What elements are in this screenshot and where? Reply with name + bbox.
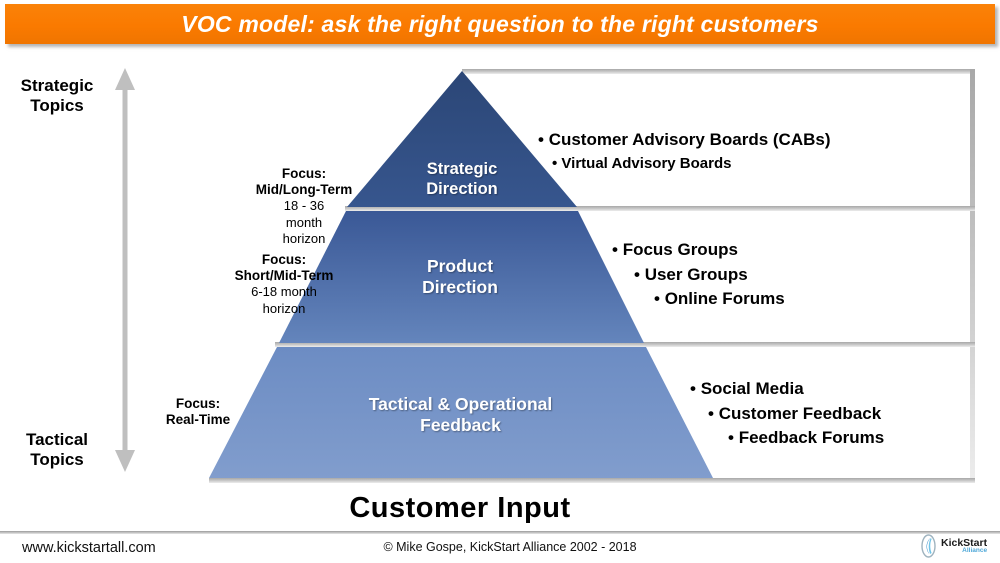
kickstart-leaf-icon <box>920 534 937 558</box>
footer-copyright: © Mike Gospe, KickStart Alliance 2002 - … <box>300 540 720 554</box>
tier-title-tactical-operational-feedback: Tactical & Operational Feedback <box>318 394 603 436</box>
kickstart-logo-text: KickStart Alliance <box>941 538 987 555</box>
axis-label-strategic-topics: Strategic Topics <box>2 76 112 116</box>
list-item: • User Groups <box>634 263 785 288</box>
bullet-text: Social Media <box>701 379 804 398</box>
focus-note-2-title-line2: Short/Mid-Term <box>196 268 372 284</box>
focus-note-3-title-line1: Focus: <box>128 396 268 412</box>
tier-3-line1: Tactical & Operational <box>318 394 603 415</box>
focus-note-2-sub-line1: 6-18 month <box>196 284 372 300</box>
list-item: • Online Forums <box>654 287 785 312</box>
tier-3-line2: Feedback <box>318 415 603 436</box>
tier-1-line2: Direction <box>392 180 532 200</box>
focus-note-2-title-line1: Focus: <box>196 252 372 268</box>
bullet-list-product-direction-methods: • Focus Groups • User Groups • Online Fo… <box>612 238 785 312</box>
bullet-text: Feedback Forums <box>739 428 885 447</box>
bullet-text: Online Forums <box>665 289 785 308</box>
focus-note-1-title-line2: Mid/Long-Term <box>216 182 392 198</box>
focus-note-1-sub-line3: horizon <box>216 231 392 247</box>
logo-brand-sub: Alliance <box>941 548 987 555</box>
focus-note-mid-long-term: Focus: Mid/Long-Term 18 - 36 month horiz… <box>216 166 392 247</box>
focus-note-real-time: Focus: Real-Time <box>128 396 268 428</box>
axis-label-tactical-topics: Tactical Topics <box>2 430 112 470</box>
axis-label-strategic-line1: Strategic <box>2 76 112 96</box>
tier-2-line2: Direction <box>385 277 535 298</box>
axis-label-strategic-line2: Topics <box>2 96 112 116</box>
tier-title-strategic-direction: Strategic Direction <box>392 160 532 200</box>
kickstart-alliance-logo: KickStart Alliance <box>920 533 996 559</box>
tier-2-line1: Product <box>385 256 535 277</box>
bullet-text: User Groups <box>645 265 748 284</box>
focus-note-1-sub-line2: month <box>216 215 392 231</box>
list-item: • Virtual Advisory Boards <box>552 153 831 175</box>
footer-divider <box>0 531 1000 534</box>
bullet-text: Virtual Advisory Boards <box>561 155 731 172</box>
bullet-list-strategic-direction-methods: • Customer Advisory Boards (CABs) • Virt… <box>538 128 831 174</box>
header-banner: VOC model: ask the right question to the… <box>5 4 995 44</box>
focus-note-short-mid-term: Focus: Short/Mid-Term 6-18 month horizon <box>196 252 372 317</box>
tier-1-line1: Strategic <box>392 160 532 180</box>
axis-label-tactical-line1: Tactical <box>2 430 112 450</box>
list-item: • Focus Groups <box>612 238 785 263</box>
bullet-list-tactical-feedback-methods: • Social Media • Customer Feedback • Fee… <box>690 377 884 451</box>
axis-label-tactical-line2: Topics <box>2 450 112 470</box>
bullet-text: Customer Feedback <box>719 404 882 423</box>
pyramid-base-caption: Customer Input <box>250 492 670 525</box>
list-item: • Customer Advisory Boards (CABs) <box>538 128 831 153</box>
focus-note-2-sub-line2: horizon <box>196 301 372 317</box>
focus-note-1-sub-line1: 18 - 36 <box>216 198 392 214</box>
header-bar: VOC model: ask the right question to the… <box>5 4 995 44</box>
bullet-text: Focus Groups <box>623 240 738 259</box>
focus-note-1-title-line1: Focus: <box>216 166 392 182</box>
list-item: • Feedback Forums <box>728 426 884 451</box>
focus-note-3-title-line2: Real-Time <box>128 412 268 428</box>
page-title: VOC model: ask the right question to the… <box>181 11 818 38</box>
tier-title-product-direction: Product Direction <box>385 256 535 298</box>
footer-website[interactable]: www.kickstartall.com <box>22 540 156 556</box>
list-item: • Social Media <box>690 377 884 402</box>
list-item: • Customer Feedback <box>708 402 884 427</box>
bullet-text: Customer Advisory Boards (CABs) <box>549 130 831 149</box>
